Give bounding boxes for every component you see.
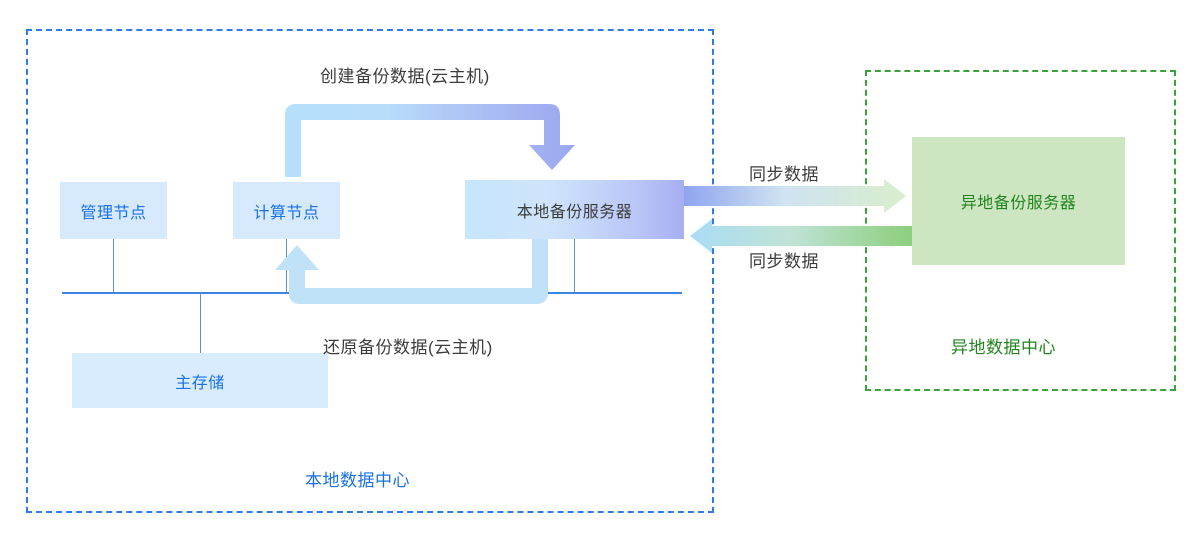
connector-local-backup-to-bus: [574, 239, 575, 293]
flow-label-create-backup: 创建备份数据(云主机): [320, 62, 490, 87]
connector-compute-to-bus: [286, 239, 287, 293]
node-remote-backup-server[interactable]: 异地备份服务器: [912, 137, 1125, 265]
zone-local-label: 本地数据中心: [305, 466, 410, 491]
flow-label-sync-out: 同步数据: [749, 160, 819, 185]
node-management[interactable]: 管理节点: [60, 182, 167, 239]
node-primary-storage-label: 主存储: [175, 369, 225, 393]
connector-bus-to-storage: [200, 293, 201, 353]
node-compute[interactable]: 计算节点: [233, 182, 340, 239]
zone-local-data-center: [26, 29, 714, 513]
bus-line: [62, 292, 682, 294]
node-remote-backup-server-label: 异地备份服务器: [961, 189, 1077, 213]
node-primary-storage[interactable]: 主存储: [72, 353, 328, 408]
node-compute-label: 计算节点: [253, 199, 319, 223]
zone-remote-label: 异地数据中心: [951, 333, 1056, 358]
flow-label-sync-in: 同步数据: [749, 247, 819, 272]
diagram-canvas: 本地数据中心 异地数据中心: [0, 0, 1200, 542]
node-local-backup-server-label: 本地备份服务器: [517, 198, 633, 222]
node-local-backup-server[interactable]: 本地备份服务器: [465, 180, 684, 239]
connector-mgmt-to-bus: [113, 239, 114, 293]
flow-label-restore-backup: 还原备份数据(云主机): [323, 333, 493, 358]
node-management-label: 管理节点: [80, 199, 146, 223]
